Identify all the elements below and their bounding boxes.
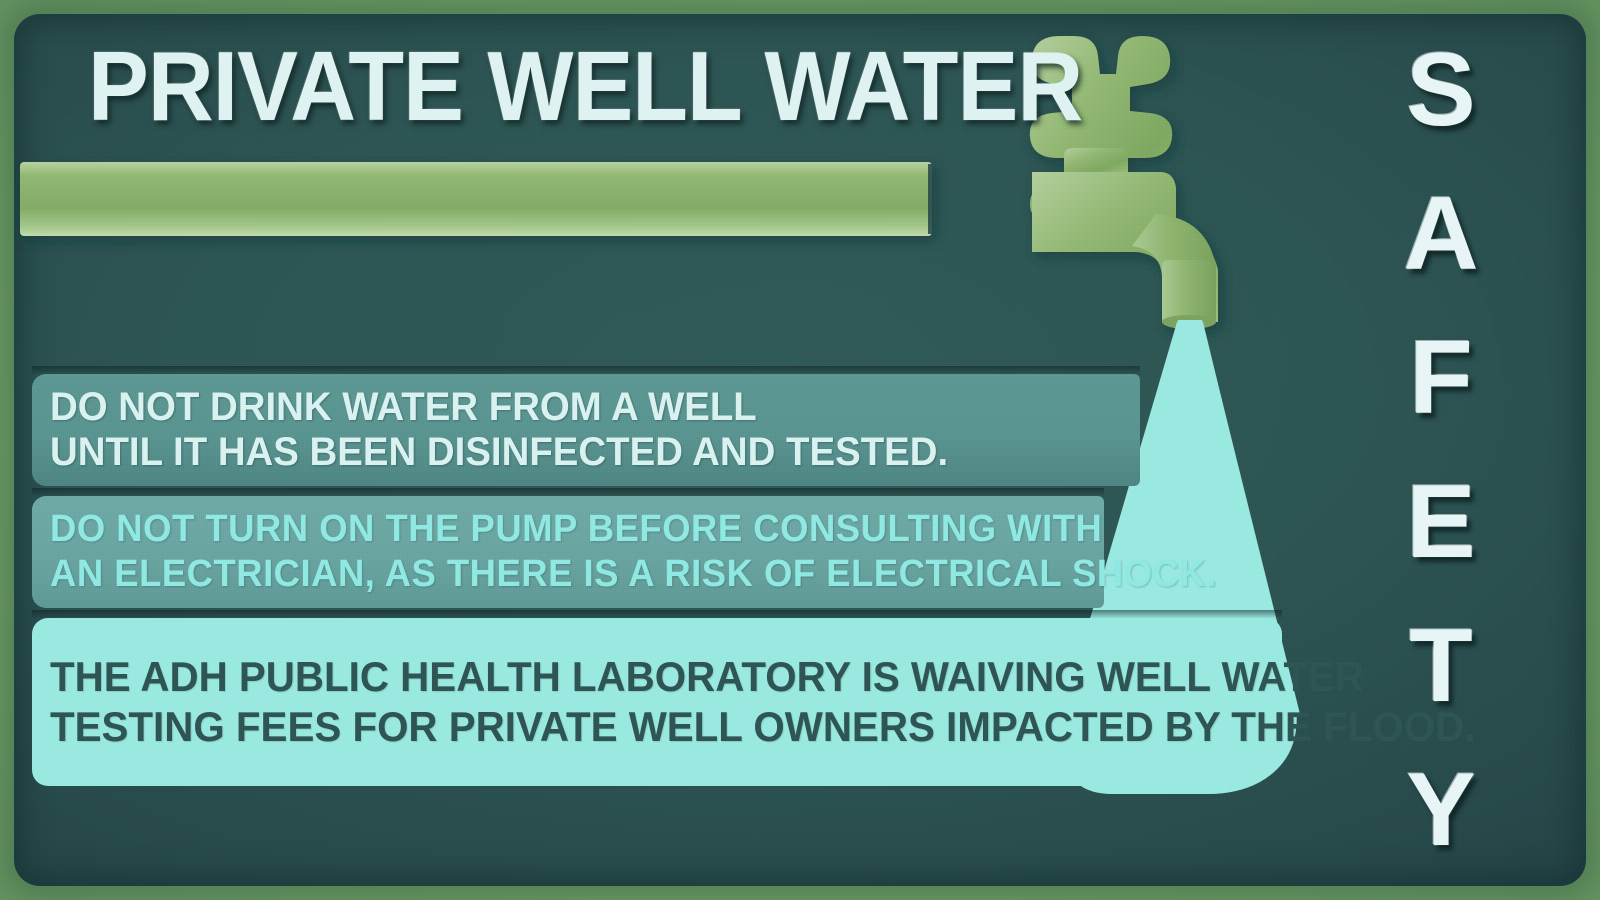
msg1-line2: UNTIL IT HAS BEEN DISINFECTED AND TESTED…: [50, 430, 1096, 475]
msg2-line2: AN ELECTRICIAN, AS THERE IS A RISK OF EL…: [50, 552, 1062, 597]
poster-panel: PRIVATE WELL WATER DO NOT DRINK WATER FR…: [14, 14, 1586, 886]
message-box-do-not-turn-on-pump: DO NOT TURN ON THE PUMP BEFORE CONSULTIN…: [32, 496, 1104, 608]
faucet-horizontal-pipe: [20, 162, 932, 236]
safety-letter-s: S: [1406, 38, 1475, 142]
msg2-line1: DO NOT TURN ON THE PUMP BEFORE CONSULTIN…: [50, 507, 1062, 552]
message-box-adh-lab-waiving-fees: THE ADH PUBLIC HEALTH LABORATORY IS WAIV…: [32, 618, 1282, 786]
vertical-safety-word: S A F E T Y: [1366, 38, 1516, 862]
safety-letter-a: A: [1403, 182, 1478, 286]
msg1-line1: DO NOT DRINK WATER FROM A WELL: [50, 385, 1096, 430]
poster-canvas: PRIVATE WELL WATER DO NOT DRINK WATER FR…: [0, 0, 1600, 900]
safety-letter-y: Y: [1406, 758, 1475, 862]
safety-letter-t: T: [1409, 614, 1473, 718]
safety-letter-e: E: [1406, 470, 1475, 574]
message-box-do-not-drink: DO NOT DRINK WATER FROM A WELL UNTIL IT …: [32, 374, 1140, 486]
msg3-line2: TESTING FEES FOR PRIVATE WELL OWNERS IMP…: [50, 702, 1233, 752]
page-title: PRIVATE WELL WATER: [88, 36, 1082, 136]
msg3-line1: THE ADH PUBLIC HEALTH LABORATORY IS WAIV…: [50, 652, 1233, 702]
safety-letter-f: F: [1409, 326, 1473, 430]
